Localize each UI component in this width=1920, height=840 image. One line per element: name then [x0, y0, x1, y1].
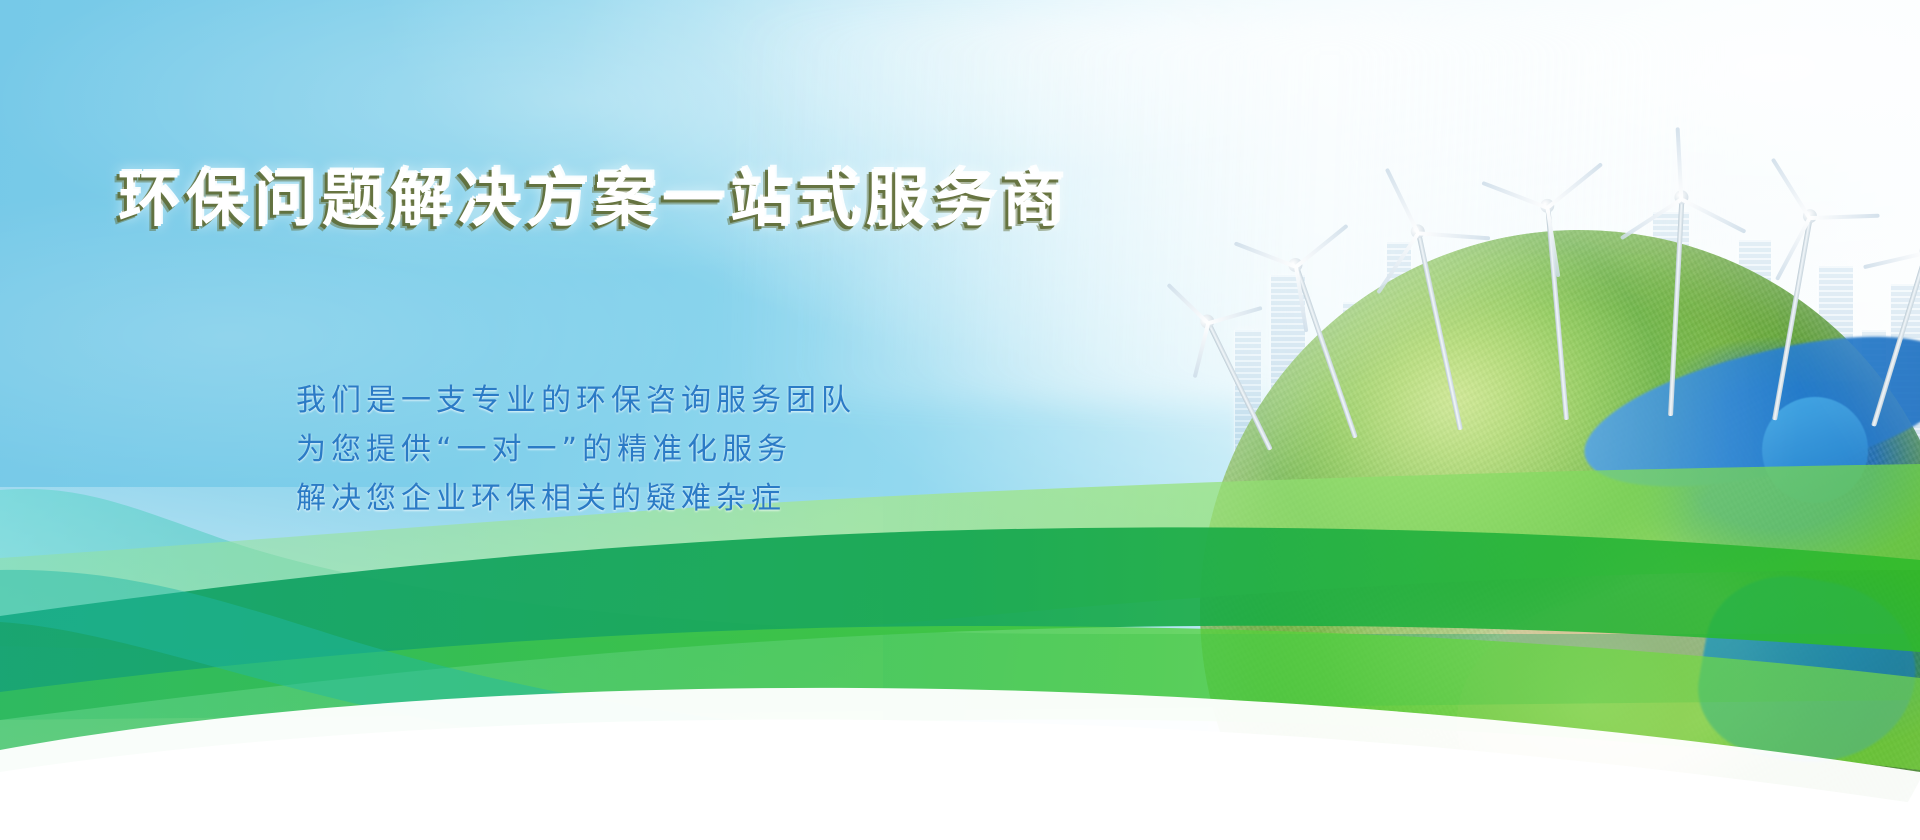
green-wave-ribbon	[0, 420, 1920, 840]
subcopy-line-1: 我们是一支专业的环保咨询服务团队	[296, 386, 856, 416]
subcopy-block: 我们是一支专业的环保咨询服务团队 为您提供“一对一”的精准化服务 解决您企业环保…	[296, 386, 856, 533]
subcopy-line-3: 解决您企业环保相关的疑难杂症	[296, 484, 856, 514]
wind-turbine	[1499, 195, 1614, 425]
subcopy-line-2: 为您提供“一对一”的精准化服务	[296, 435, 856, 465]
eco-consulting-hero-banner: 环保问题解决方案一站式服务商 我们是一支专业的环保咨询服务团队 为您提供“一对一…	[0, 0, 1920, 840]
page-title: 环保问题解决方案一站式服务商	[118, 168, 1070, 230]
wind-turbine	[1622, 188, 1730, 419]
